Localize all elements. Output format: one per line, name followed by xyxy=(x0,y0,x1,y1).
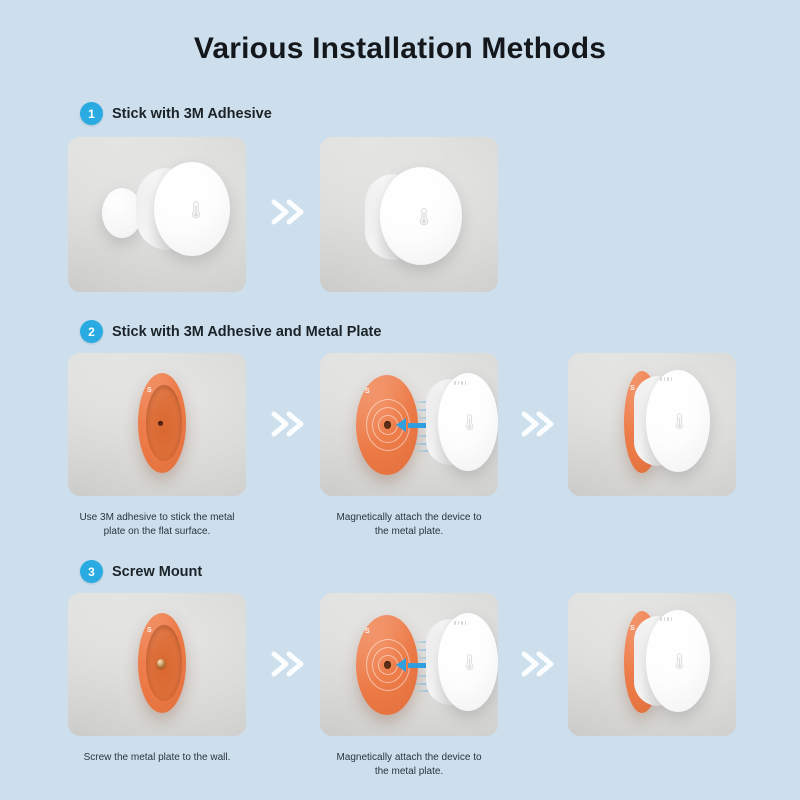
step3-panel-3-art: S xyxy=(568,593,736,736)
double-chevron-right-icon xyxy=(520,411,560,437)
sensor-device xyxy=(426,613,498,711)
step-title-1: Stick with 3M Adhesive xyxy=(112,106,272,122)
step1-panel-2-art xyxy=(320,137,498,292)
beam-arrow-head xyxy=(396,658,406,672)
step3-panel-3: S xyxy=(568,593,736,736)
caption-line: Use 3M adhesive to stick the metal xyxy=(68,511,246,525)
step-header-1: 1 Stick with 3M Adhesive xyxy=(80,102,272,125)
caption-line: Magnetically attach the device to xyxy=(320,511,498,525)
sensor-device xyxy=(138,162,230,256)
step2-panel-1: S xyxy=(68,353,246,496)
brand-logo: S xyxy=(147,387,151,394)
step-header-2: 2 Stick with 3M Adhesive and Metal Plate xyxy=(80,320,381,343)
arrow-step1 xyxy=(268,192,312,232)
sensor-vents xyxy=(454,381,466,385)
step1-panel-2 xyxy=(320,137,498,292)
metal-plate-hole xyxy=(384,661,391,669)
step2-panel-1-art: S xyxy=(68,353,246,496)
sensor-vents xyxy=(660,377,672,381)
metal-plate-hole xyxy=(158,421,163,426)
infographic-page: Various Installation Methods 1 Stick wit… xyxy=(0,0,800,800)
caption-line: plate on the flat surface. xyxy=(68,525,246,539)
step3-panel-1: S xyxy=(68,593,246,736)
step2-panel-3: S xyxy=(568,353,736,496)
step3-caption-1: Screw the metal plate to the wall. xyxy=(68,751,246,765)
step3-panel-2-art: S xyxy=(320,593,498,736)
thermometer-icon xyxy=(190,200,202,220)
sensor-device xyxy=(634,610,710,712)
thermometer-icon xyxy=(464,413,475,432)
caption-line: Screw the metal plate to the wall. xyxy=(68,751,246,765)
arrow-step3-b xyxy=(518,644,562,684)
brand-logo: S xyxy=(365,388,369,395)
step1-panel-1-art xyxy=(68,137,246,292)
double-chevron-right-icon xyxy=(270,411,310,437)
step1-panel-1 xyxy=(68,137,246,292)
step2-panel-2-art: S xyxy=(320,353,498,496)
caption-line: the metal plate. xyxy=(320,525,498,539)
sensor-device xyxy=(634,370,710,472)
brand-logo: S xyxy=(365,628,369,635)
brand-logo: S xyxy=(147,627,151,634)
sensor-vents xyxy=(454,621,466,625)
metal-plate-dish xyxy=(146,385,182,461)
step-badge-1: 1 xyxy=(80,102,103,125)
arrow-step2-a xyxy=(268,404,312,444)
mounting-screw xyxy=(157,659,165,668)
caption-line: the metal plate. xyxy=(320,765,498,779)
sensor-device xyxy=(426,373,498,471)
metal-plate: S xyxy=(138,373,186,473)
step3-panel-2: S xyxy=(320,593,498,736)
arrow-step3-a xyxy=(268,644,312,684)
sensor-vents xyxy=(660,617,672,621)
step2-caption-1: Use 3M adhesive to stick the metal plate… xyxy=(68,511,246,539)
beam-arrow-head xyxy=(396,418,406,432)
step3-panel-1-art: S xyxy=(68,593,246,736)
step-badge-2: 2 xyxy=(80,320,103,343)
sensor-device xyxy=(366,167,462,265)
metal-plate: S xyxy=(138,613,186,713)
step3-caption-2: Magnetically attach the device to the me… xyxy=(320,751,498,779)
thermometer-icon xyxy=(464,653,475,672)
step2-caption-2: Magnetically attach the device to the me… xyxy=(320,511,498,539)
double-chevron-right-icon xyxy=(270,199,310,225)
thermometer-icon xyxy=(418,207,430,227)
metal-plate-hole xyxy=(384,421,391,429)
thermometer-icon xyxy=(674,652,685,671)
step-header-3: 3 Screw Mount xyxy=(80,560,202,583)
double-chevron-right-icon xyxy=(520,651,560,677)
step-title-3: Screw Mount xyxy=(112,564,202,580)
page-title: Various Installation Methods xyxy=(0,32,800,66)
step2-panel-2: S xyxy=(320,353,498,496)
step2-panel-3-art: S xyxy=(568,353,736,496)
step-badge-3: 3 xyxy=(80,560,103,583)
step-title-2: Stick with 3M Adhesive and Metal Plate xyxy=(112,324,381,340)
thermometer-icon xyxy=(674,412,685,431)
double-chevron-right-icon xyxy=(270,651,310,677)
caption-line: Magnetically attach the device to xyxy=(320,751,498,765)
arrow-step2-b xyxy=(518,404,562,444)
